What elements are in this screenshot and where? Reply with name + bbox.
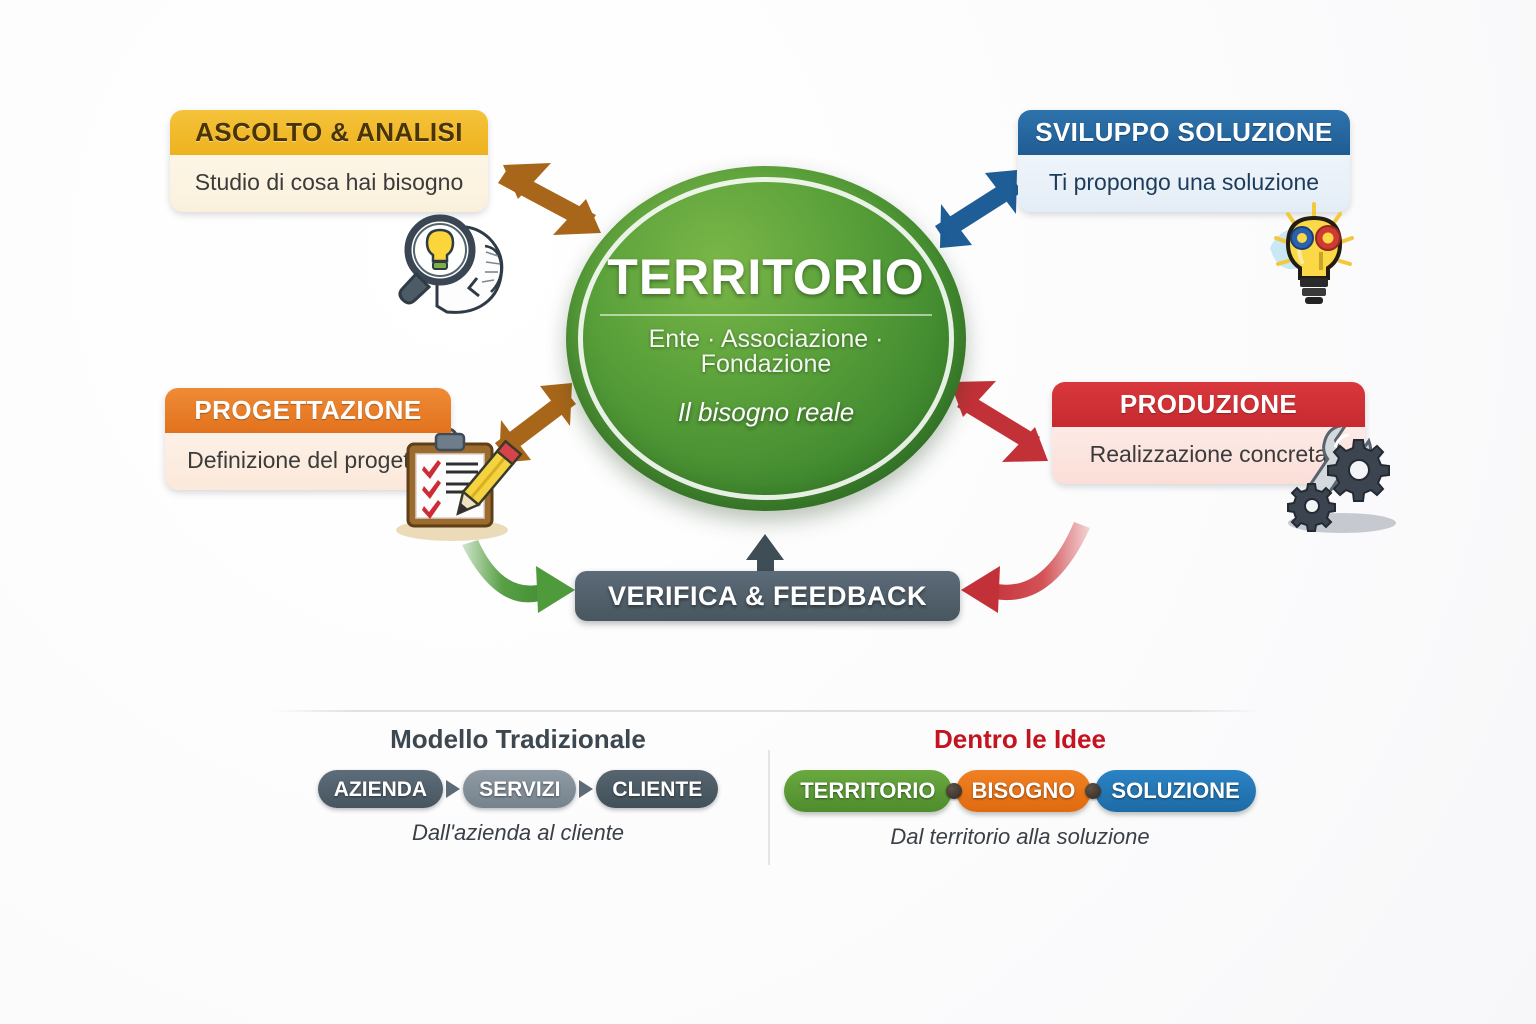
- chain-step-servizi[interactable]: SERVIZI: [463, 770, 576, 808]
- idee-chain: TERRITORIO BISOGNO SOLUZIONE: [780, 770, 1260, 812]
- arrow-produzione-feedback: [961, 522, 1090, 613]
- magnifier-head-lightbulb-icon: [382, 206, 522, 318]
- panel-traditional-title: Modello Tradizionale: [278, 726, 758, 752]
- panel-idee-caption: Dal territorio alla soluzione: [780, 826, 1260, 848]
- arrow-feedback-center: [746, 534, 784, 571]
- card-sviluppo-soluzione[interactable]: SVILUPPO SOLUZIONE Ti propongo una soluz…: [1018, 110, 1350, 212]
- diagram-canvas: ASCOLTO & ANALISI Studio di cosa hai bis…: [0, 0, 1536, 1024]
- panel-idee-title: Dentro le Idee: [780, 726, 1260, 752]
- lightbulb-gears-icon: [1252, 200, 1378, 312]
- chain-step-azienda[interactable]: AZIENDA: [318, 770, 443, 808]
- wrench-gears-icon: [1272, 418, 1410, 536]
- center-circle-divider: [600, 314, 932, 316]
- verifica-feedback-bar[interactable]: VERIFICA & FEEDBACK: [575, 571, 960, 621]
- card-progettazione-header: PROGETTAZIONE: [165, 388, 451, 433]
- panel-dentro-le-idee: Dentro le Idee TERRITORIO BISOGNO SOLUZI…: [780, 726, 1260, 848]
- panel-modello-tradizionale: Modello Tradizionale AZIENDA SERVIZI CLI…: [278, 726, 758, 844]
- chain-arrow-icon-1: [446, 780, 460, 798]
- center-circle-tagline: Il bisogno reale: [594, 399, 938, 425]
- chain-step-bisogno[interactable]: BISOGNO: [956, 770, 1092, 812]
- gear-small: [1288, 484, 1335, 531]
- verifica-feedback-label: VERIFICA & FEEDBACK: [608, 581, 927, 612]
- chain-arrow-icon-2: [579, 780, 593, 798]
- arrow-progettazione-feedback: [462, 540, 575, 613]
- center-circle-subtitle: Ente · Associazione · Fondazione: [594, 327, 938, 377]
- card-ascolto-analisi[interactable]: ASCOLTO & ANALISI Studio di cosa hai bis…: [170, 110, 488, 212]
- card-ascolto-analisi-header: ASCOLTO & ANALISI: [170, 110, 488, 155]
- chain-link-knob-1: [946, 783, 962, 799]
- card-produzione-header: PRODUZIONE: [1052, 382, 1365, 427]
- clipboard-pencil-icon: [388, 424, 528, 542]
- arrow-sviluppo-center: [935, 170, 1022, 248]
- center-circle-territorio[interactable]: TERRITORIO Ente · Associazione · Fondazi…: [566, 166, 966, 511]
- gear-large: [1328, 440, 1389, 501]
- traditional-chain: AZIENDA SERVIZI CLIENTE: [278, 770, 758, 808]
- panel-traditional-caption: Dall'azienda al cliente: [278, 822, 758, 844]
- center-circle-title: TERRITORIO: [594, 252, 938, 302]
- arrow-produzione-center: [950, 381, 1048, 462]
- chain-step-soluzione[interactable]: SOLUZIONE: [1095, 770, 1255, 812]
- section-divider-horizontal: [272, 710, 1264, 712]
- card-sviluppo-soluzione-header: SVILUPPO SOLUZIONE: [1018, 110, 1350, 155]
- chain-step-territorio[interactable]: TERRITORIO: [784, 770, 951, 812]
- section-divider-vertical: [768, 750, 770, 865]
- chain-step-cliente[interactable]: CLIENTE: [596, 770, 718, 808]
- card-ascolto-analisi-body: Studio di cosa hai bisogno: [170, 155, 488, 212]
